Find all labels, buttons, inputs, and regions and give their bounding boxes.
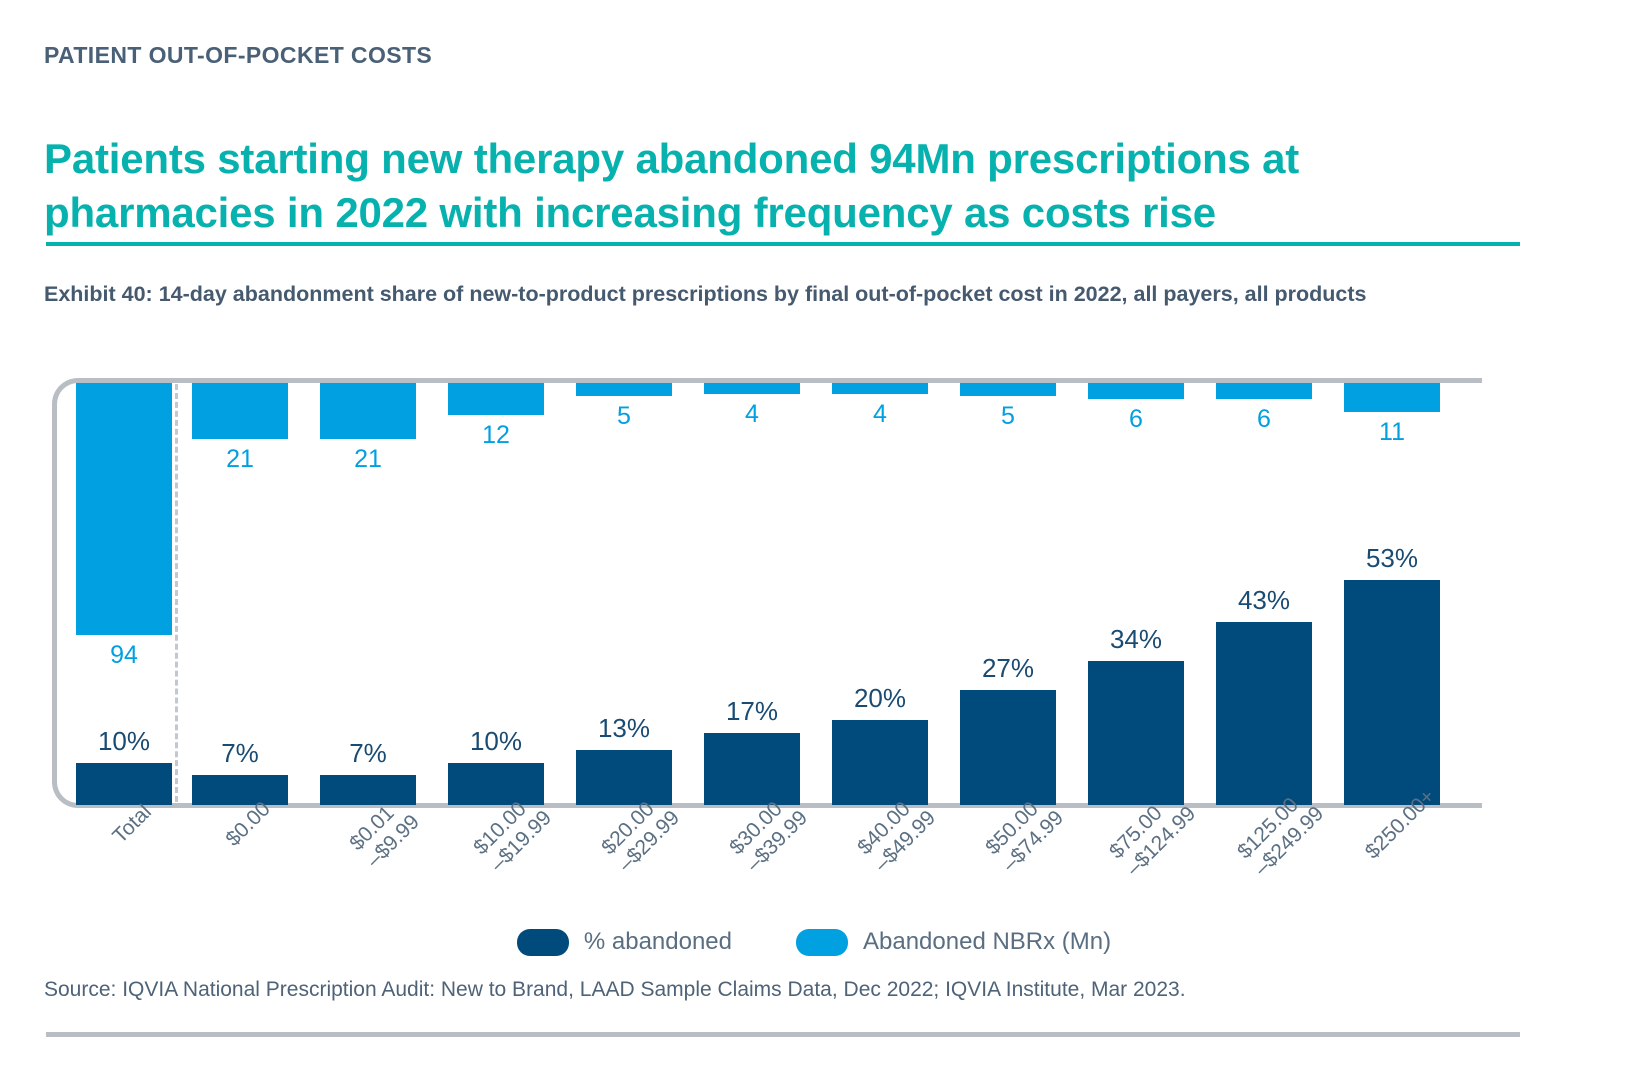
nbrx-value-label: 12: [448, 421, 544, 450]
x-axis-tick: $75.00–$124.99: [1088, 812, 1184, 922]
nbrx-bar[interactable]: [76, 383, 172, 635]
nbrx-value-label: 5: [960, 402, 1056, 431]
bar-group: 420%: [832, 383, 928, 805]
pct-value-label: 43%: [1216, 585, 1312, 616]
bar-group: 217%: [192, 383, 288, 805]
pct-bar[interactable]: [192, 775, 288, 805]
pct-value-label: 7%: [320, 738, 416, 769]
nbrx-value-label: 4: [832, 400, 928, 429]
pct-bar[interactable]: [76, 763, 172, 806]
pct-bar[interactable]: [1344, 580, 1440, 805]
pct-bar[interactable]: [1216, 622, 1312, 805]
nbrx-value-label: 6: [1088, 405, 1184, 434]
pct-bar[interactable]: [960, 690, 1056, 805]
legend-label: Abandoned NBRx (Mn): [863, 928, 1111, 956]
pct-value-label: 27%: [960, 653, 1056, 684]
x-axis-tick: $125.00–$249.99: [1216, 812, 1312, 922]
nbrx-value-label: 4: [704, 400, 800, 429]
pct-value-label: 13%: [576, 713, 672, 744]
pct-value-label: 53%: [1344, 543, 1440, 574]
nbrx-value-label: 94: [76, 641, 172, 670]
bar-group: 527%: [960, 383, 1056, 805]
nbrx-bar[interactable]: [448, 383, 544, 415]
x-axis-tick: Total: [76, 812, 172, 922]
exhibit-page: PATIENT OUT-OF-POCKET COSTS Patients sta…: [0, 0, 1628, 1080]
legend-swatch: [796, 929, 848, 956]
x-axis-tick: $30.00–$39.99: [704, 812, 800, 922]
x-axis-tick: $20.00–$29.99: [576, 812, 672, 922]
pct-value-label: 10%: [448, 726, 544, 757]
pct-bar[interactable]: [320, 775, 416, 805]
pct-value-label: 20%: [832, 683, 928, 714]
bar-group: 634%: [1088, 383, 1184, 805]
legend-item[interactable]: % abandoned: [517, 928, 732, 956]
nbrx-bar[interactable]: [576, 383, 672, 396]
x-axis-tick: $40.00–$49.99: [832, 812, 928, 922]
nbrx-bar[interactable]: [704, 383, 800, 394]
x-axis-tick: $10.00–$19.99: [448, 812, 544, 922]
bar-group: 417%: [704, 383, 800, 805]
nbrx-value-label: 11: [1344, 418, 1440, 447]
legend-label: % abandoned: [584, 928, 732, 956]
exhibit-caption: Exhibit 40: 14-day abandonment share of …: [44, 278, 1492, 311]
nbrx-bar[interactable]: [1216, 383, 1312, 399]
bar-group: 1210%: [448, 383, 544, 805]
pct-bar[interactable]: [832, 720, 928, 805]
bar-group: 217%: [320, 383, 416, 805]
x-axis-tick: $50.00–$74.99: [960, 812, 1056, 922]
x-axis: Total$0.00$0.01–$9.99$10.00–$19.99$20.00…: [52, 812, 1482, 922]
x-axis-tick: $250.00+: [1344, 812, 1440, 922]
nbrx-bar[interactable]: [1344, 383, 1440, 412]
pct-value-label: 10%: [76, 726, 172, 757]
eyebrow-label: PATIENT OUT-OF-POCKET COSTS: [44, 42, 432, 69]
nbrx-value-label: 5: [576, 402, 672, 431]
bar-group: 1153%: [1344, 383, 1440, 805]
chart-legend: % abandonedAbandoned NBRx (Mn): [0, 928, 1628, 956]
chart-plot-area: 9410%217%217%1210%513%417%420%527%634%64…: [52, 383, 1482, 805]
nbrx-value-label: 21: [192, 445, 288, 474]
nbrx-bar[interactable]: [1088, 383, 1184, 399]
title-divider: [46, 242, 1520, 246]
nbrx-value-label: 21: [320, 445, 416, 474]
nbrx-bar[interactable]: [832, 383, 928, 394]
pct-bar[interactable]: [1088, 661, 1184, 806]
pct-bar[interactable]: [704, 733, 800, 805]
legend-swatch: [517, 929, 569, 956]
nbrx-bar[interactable]: [960, 383, 1056, 396]
bar-group: 643%: [1216, 383, 1312, 805]
nbrx-bar[interactable]: [192, 383, 288, 439]
nbrx-value-label: 6: [1216, 405, 1312, 434]
nbrx-bar[interactable]: [320, 383, 416, 439]
x-axis-tick: $0.00: [192, 812, 288, 922]
legend-item[interactable]: Abandoned NBRx (Mn): [796, 928, 1111, 956]
source-note: Source: IQVIA National Prescription Audi…: [44, 978, 1186, 1002]
footer-divider: [46, 1032, 1520, 1037]
pct-value-label: 34%: [1088, 624, 1184, 655]
x-axis-tick: $0.01–$9.99: [320, 812, 416, 922]
bar-group: 513%: [576, 383, 672, 805]
bar-group: 9410%: [76, 383, 172, 805]
pct-value-label: 17%: [704, 696, 800, 727]
page-title: Patients starting new therapy abandoned …: [44, 132, 1514, 240]
pct-value-label: 7%: [192, 738, 288, 769]
